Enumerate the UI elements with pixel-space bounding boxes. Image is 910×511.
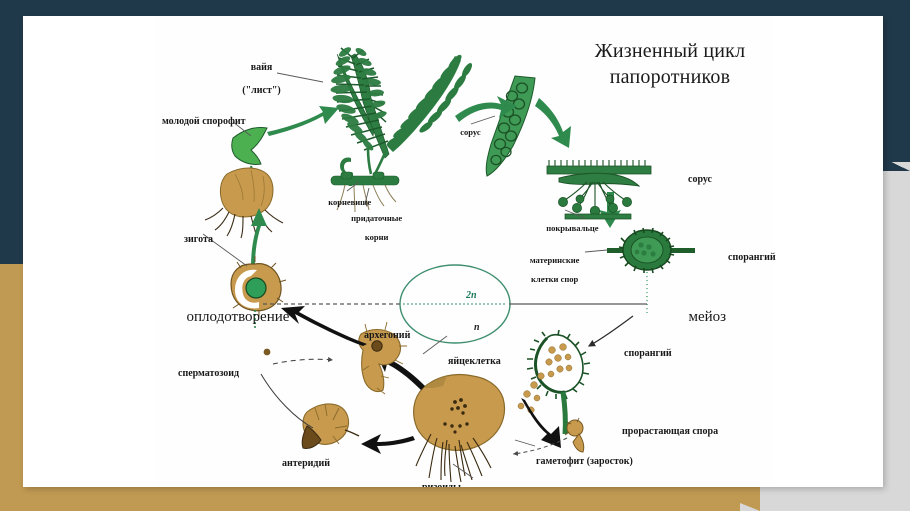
label-fertilization: оплодотворение — [149, 292, 289, 344]
arrow-sporophyte-to-frond — [267, 106, 339, 136]
label-germinating-spore: прорастающая спора — [597, 414, 718, 449]
spermatozoid-cell — [264, 349, 271, 356]
label-spore-mother-cells: материнские клетки спор — [505, 246, 583, 295]
label-rhizoids: ризоиды — [397, 470, 461, 487]
label-indusium: покрывальце — [525, 214, 599, 243]
label-sporangium-top: спорангий — [703, 240, 776, 275]
decor-gold-bottom-band — [0, 487, 740, 511]
decor-navy-right-band — [881, 0, 910, 162]
label-egg-cell: яйцеклетка — [423, 344, 501, 379]
label-ploidy-n: n — [449, 310, 480, 345]
label-vaya: вайя ("лист") — [213, 50, 285, 108]
sporangium-illustration-top — [607, 228, 695, 273]
diagram-title: Жизненный цикл папоротников — [555, 38, 785, 91]
label-gametophyte: гаметофит (заросток) — [511, 444, 633, 479]
slide-content-card: Жизненный цикл папоротников вайя ("лист"… — [23, 16, 883, 487]
gametophyte-illustration — [414, 375, 505, 483]
label-young-sporophyte: молодой спорофит — [137, 104, 246, 139]
decor-gray-right-band — [881, 160, 910, 511]
diagram-title-line2: папоротников — [610, 66, 730, 88]
label-sorus-on-pinna: сорус — [439, 118, 481, 147]
presentation-slide: Жизненный цикл папоротников вайя ("лист"… — [0, 0, 910, 511]
arrow-zygote-to-sporophyte — [251, 208, 267, 266]
arrow-sporangium-to-spore — [521, 398, 561, 448]
label-ploidy-2n: 2n — [441, 278, 477, 313]
diagram-title-line1: Жизненный цикл — [595, 40, 746, 62]
decor-navy-top-band — [0, 0, 910, 17]
label-zygote: зигота — [159, 222, 213, 257]
sorus-cross-section-illustration — [547, 160, 651, 219]
label-antheridium: антеридий — [257, 446, 330, 481]
label-sporangium-bottom: спорангий — [599, 336, 672, 371]
arrow-pinna-to-sorus — [535, 98, 571, 148]
sorus-pinna-illustration — [486, 76, 535, 176]
gametophyte-with-sporophyte-illustration — [205, 168, 283, 238]
decor-gold-bottom-corner — [700, 487, 760, 511]
arrow-gametophyte-to-antheridium — [361, 434, 415, 454]
label-sorus-section: сорус — [663, 162, 712, 197]
decor-navy-right-corner — [881, 157, 910, 171]
label-archegonium: архегоний — [339, 318, 410, 353]
fern-life-cycle-figure: Жизненный цикл папоротников вайя ("лист"… — [155, 16, 775, 487]
label-adventitious-roots: придаточные корни — [327, 204, 405, 253]
label-spermatozoid: сперматозоид — [153, 356, 239, 391]
